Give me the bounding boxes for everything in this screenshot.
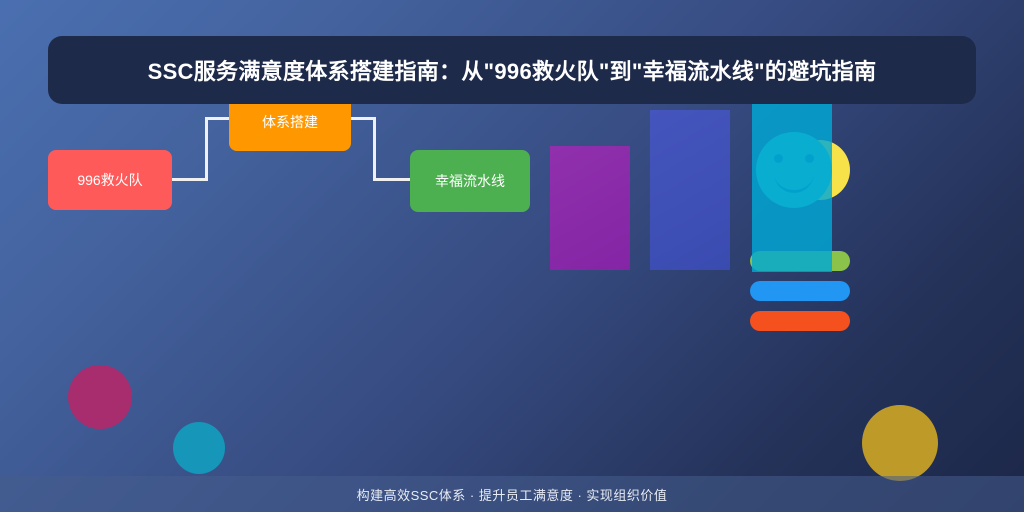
footer-text: 构建高效SSC体系 · 提升员工满意度 · 实现组织价值 [357,485,668,504]
decorative-circle-teal [173,422,225,474]
flow-node-middle-label: 体系搭建 [262,112,318,132]
illustration-bar-orange [750,311,850,331]
connector-middle-to-end-segment-2 [373,117,376,181]
decorative-circle-magenta [68,365,132,429]
page-title: SSC服务满意度体系搭建指南：从"996救火队"到"幸福流水线"的避坑指南 [148,54,877,86]
connector-start-to-middle-segment-2 [205,117,208,181]
flow-node-end[interactable]: 幸福流水线 [410,150,530,212]
footer-bar: 构建高效SSC体系 · 提升员工满意度 · 实现组织价值 [0,476,1024,512]
title-bar: SSC服务满意度体系搭建指南：从"996救火队"到"幸福流水线"的避坑指南 [48,36,976,104]
flow-node-start[interactable]: 996救火队 [48,150,172,210]
flow-node-start-label: 996救火队 [77,170,142,190]
illustration-bar-blue [750,281,850,301]
illustration-blue-rectangle [650,110,730,270]
slide-canvas: 体系搭建 SSC服务满意度体系搭建指南：从"996救火队"到"幸福流水线"的避坑… [0,0,1024,512]
connector-middle-to-end-segment-3 [373,178,411,181]
illustration-cyan-band [752,100,832,272]
flow-node-end-label: 幸福流水线 [435,171,505,191]
decorative-circle-gold [862,405,938,481]
connector-start-to-middle-segment-1 [172,178,208,181]
connector-middle-to-end-segment-1 [348,117,376,120]
illustration-purple-rectangle [550,146,630,270]
